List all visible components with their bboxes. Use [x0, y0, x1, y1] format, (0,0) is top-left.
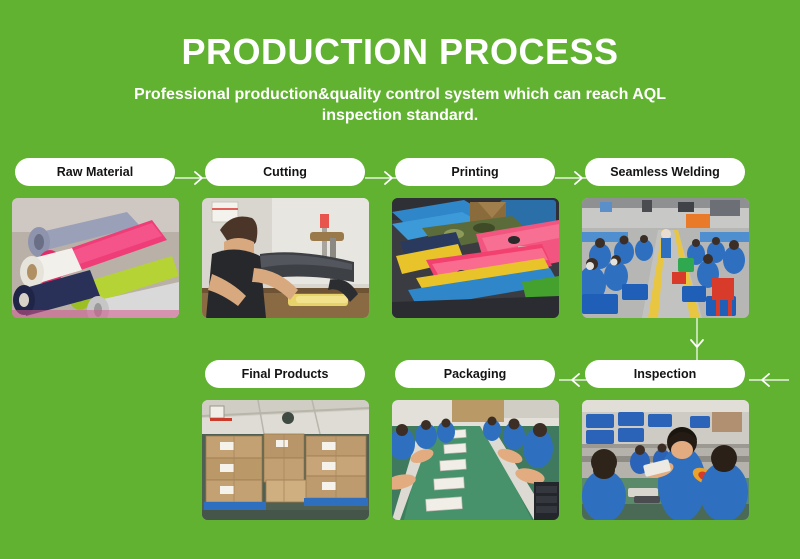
step-pill-packaging[interactable]: Packaging	[395, 360, 555, 388]
step-label: Inspection	[634, 367, 697, 381]
step-pill-cutting[interactable]: Cutting	[205, 158, 365, 186]
connector-arrow-down	[690, 318, 704, 364]
process-step-packaging[interactable]: Packaging	[380, 360, 570, 520]
page-header: PRODUCTION PROCESS Professional producti…	[0, 0, 800, 127]
process-step-final-products[interactable]: Final Products	[190, 360, 380, 520]
step-pill-raw-material[interactable]: Raw Material	[15, 158, 175, 186]
inspection-qc-photo	[582, 400, 749, 520]
process-step-seamless-welding[interactable]: Seamless Welding	[570, 158, 760, 318]
process-flow-row-2: Final Products	[0, 360, 800, 520]
process-step-cutting[interactable]: Cutting	[190, 158, 380, 318]
step-pill-printing[interactable]: Printing	[395, 158, 555, 186]
printed-bags-photo	[392, 198, 559, 318]
warehouse-boxes-photo	[202, 400, 369, 520]
process-step-inspection[interactable]: Inspection	[570, 360, 760, 520]
worker-cutting-photo	[202, 198, 369, 318]
step-pill-seamless-welding[interactable]: Seamless Welding	[585, 158, 745, 186]
step-label: Seamless Welding	[610, 165, 720, 179]
process-flow-row-1: Raw Material	[0, 158, 800, 318]
step-label: Final Products	[242, 367, 329, 381]
process-step-raw-material[interactable]: Raw Material	[0, 158, 190, 318]
process-step-printing[interactable]: Printing	[380, 158, 570, 318]
page-subtitle: Professional production&quality control …	[0, 84, 800, 127]
step-label: Cutting	[263, 165, 307, 179]
step-label: Packaging	[444, 367, 507, 381]
step-pill-final-products[interactable]: Final Products	[205, 360, 365, 388]
page-title: PRODUCTION PROCESS	[0, 32, 800, 72]
step-label: Printing	[451, 165, 498, 179]
connector-arrow-4	[745, 374, 789, 386]
step-label: Raw Material	[57, 165, 133, 179]
welding-workshop-photo	[582, 198, 749, 318]
step-pill-inspection[interactable]: Inspection	[585, 360, 745, 388]
packing-line-photo	[392, 400, 559, 520]
fabric-rolls-photo	[12, 198, 179, 318]
